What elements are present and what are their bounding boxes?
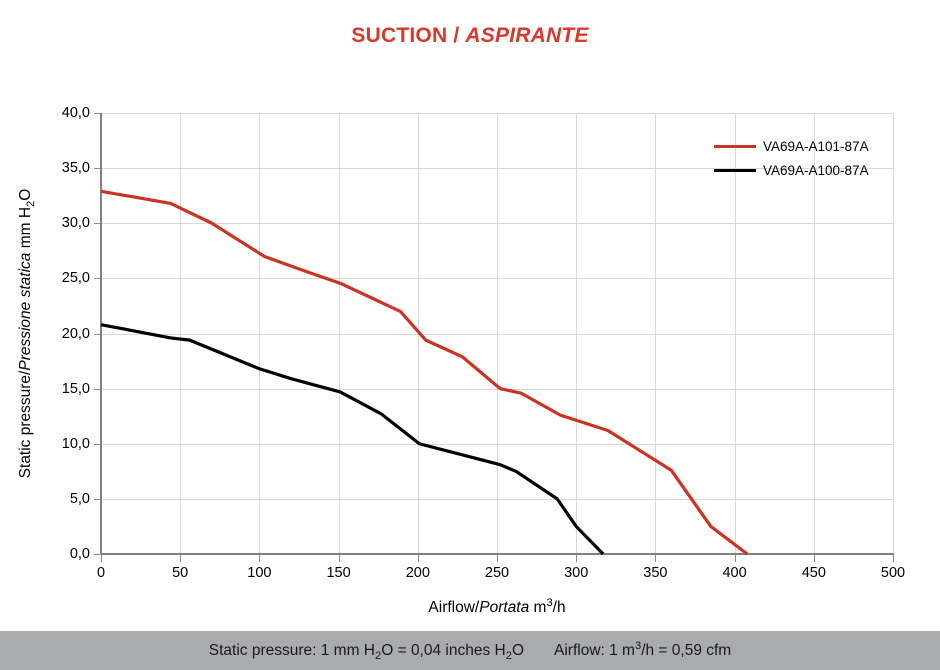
page-title-main: SUCTION / bbox=[351, 24, 465, 47]
x-axis-tick bbox=[893, 555, 894, 562]
footer-bar: Static pressure: 1 mm H2O = 0,04 inches … bbox=[0, 631, 940, 670]
page-title-italic: ASPIRANTE bbox=[465, 24, 588, 47]
legend-color-swatch bbox=[714, 145, 756, 148]
y-axis-tick bbox=[94, 113, 101, 114]
legend-item[interactable]: VA69A-A101-87A bbox=[714, 134, 904, 158]
x-axis-tick bbox=[655, 555, 656, 562]
footer-pressure-note: Static pressure: 1 mm H2O = 0,04 inches … bbox=[209, 642, 524, 659]
y-axis-tick-label: 15,0 bbox=[62, 381, 90, 397]
y-axis-tick bbox=[94, 334, 101, 335]
x-axis-tick-label: 300 bbox=[564, 565, 588, 581]
y-axis-tick-label: 10,0 bbox=[62, 436, 90, 452]
x-axis-tick bbox=[101, 555, 102, 562]
x-axis-tick bbox=[735, 555, 736, 562]
x-axis-tick-label: 350 bbox=[643, 565, 667, 581]
y-axis-tick-label: 40,0 bbox=[62, 105, 90, 121]
y-axis-tick bbox=[94, 389, 101, 390]
y-axis-title-text: Static pressure/Pressione statica mm H2O bbox=[17, 189, 37, 479]
x-axis-tick bbox=[259, 555, 260, 562]
y-axis-tick-label: 0,0 bbox=[70, 546, 90, 562]
x-axis-tick bbox=[339, 555, 340, 562]
x-axis-title-text: Airflow/Portata m3/h bbox=[428, 599, 565, 616]
legend-item[interactable]: VA69A-A100-87A bbox=[714, 158, 904, 182]
x-axis-tick bbox=[497, 555, 498, 562]
chart-page: SUCTION / ASPIRANTE 0,05,010,015,020,025… bbox=[0, 0, 940, 670]
y-axis-tick bbox=[94, 278, 101, 279]
x-axis-tick bbox=[814, 555, 815, 562]
x-axis-tick-label: 100 bbox=[247, 565, 271, 581]
series-line bbox=[101, 325, 603, 554]
x-axis-tick-label: 0 bbox=[97, 565, 105, 581]
y-axis-tick-label: 25,0 bbox=[62, 270, 90, 286]
footer-airflow-note: Airflow: 1 m3/h = 0,59 cfm bbox=[554, 642, 731, 659]
legend-color-swatch bbox=[714, 169, 756, 172]
x-axis-tick-label: 250 bbox=[485, 565, 509, 581]
y-axis-tick-label: 35,0 bbox=[62, 160, 90, 176]
x-axis-tick bbox=[576, 555, 577, 562]
y-axis-tick-label: 20,0 bbox=[62, 326, 90, 342]
x-axis-tick-label: 500 bbox=[881, 565, 905, 581]
y-axis-tick-label: 5,0 bbox=[70, 491, 90, 507]
y-axis-tick bbox=[94, 499, 101, 500]
y-axis-tick bbox=[94, 444, 101, 445]
x-axis-tick-label: 200 bbox=[406, 565, 430, 581]
x-axis-tick-label: 400 bbox=[722, 565, 746, 581]
footer-conversion-note: Static pressure: 1 mm H2O = 0,04 inches … bbox=[209, 639, 731, 661]
series-line bbox=[101, 191, 747, 554]
page-title: SUCTION / ASPIRANTE bbox=[0, 24, 940, 48]
x-axis-tick-label: 50 bbox=[172, 565, 188, 581]
x-axis-tick bbox=[418, 555, 419, 562]
legend-item-label: VA69A-A101-87A bbox=[763, 139, 869, 154]
y-axis-tick bbox=[94, 554, 101, 555]
y-axis-title: Static pressure/Pressione statica mm H2O bbox=[14, 113, 40, 554]
x-axis-title: Airflow/Portata m3/h bbox=[101, 597, 893, 617]
y-axis-tick bbox=[94, 168, 101, 169]
chart-legend: VA69A-A101-87AVA69A-A100-87A bbox=[714, 134, 904, 182]
x-axis-tick bbox=[180, 555, 181, 562]
y-axis-tick bbox=[94, 223, 101, 224]
x-axis-tick-label: 150 bbox=[326, 565, 350, 581]
legend-item-label: VA69A-A100-87A bbox=[763, 163, 869, 178]
y-axis-tick-label: 30,0 bbox=[62, 215, 90, 231]
x-axis-tick-label: 450 bbox=[802, 565, 826, 581]
